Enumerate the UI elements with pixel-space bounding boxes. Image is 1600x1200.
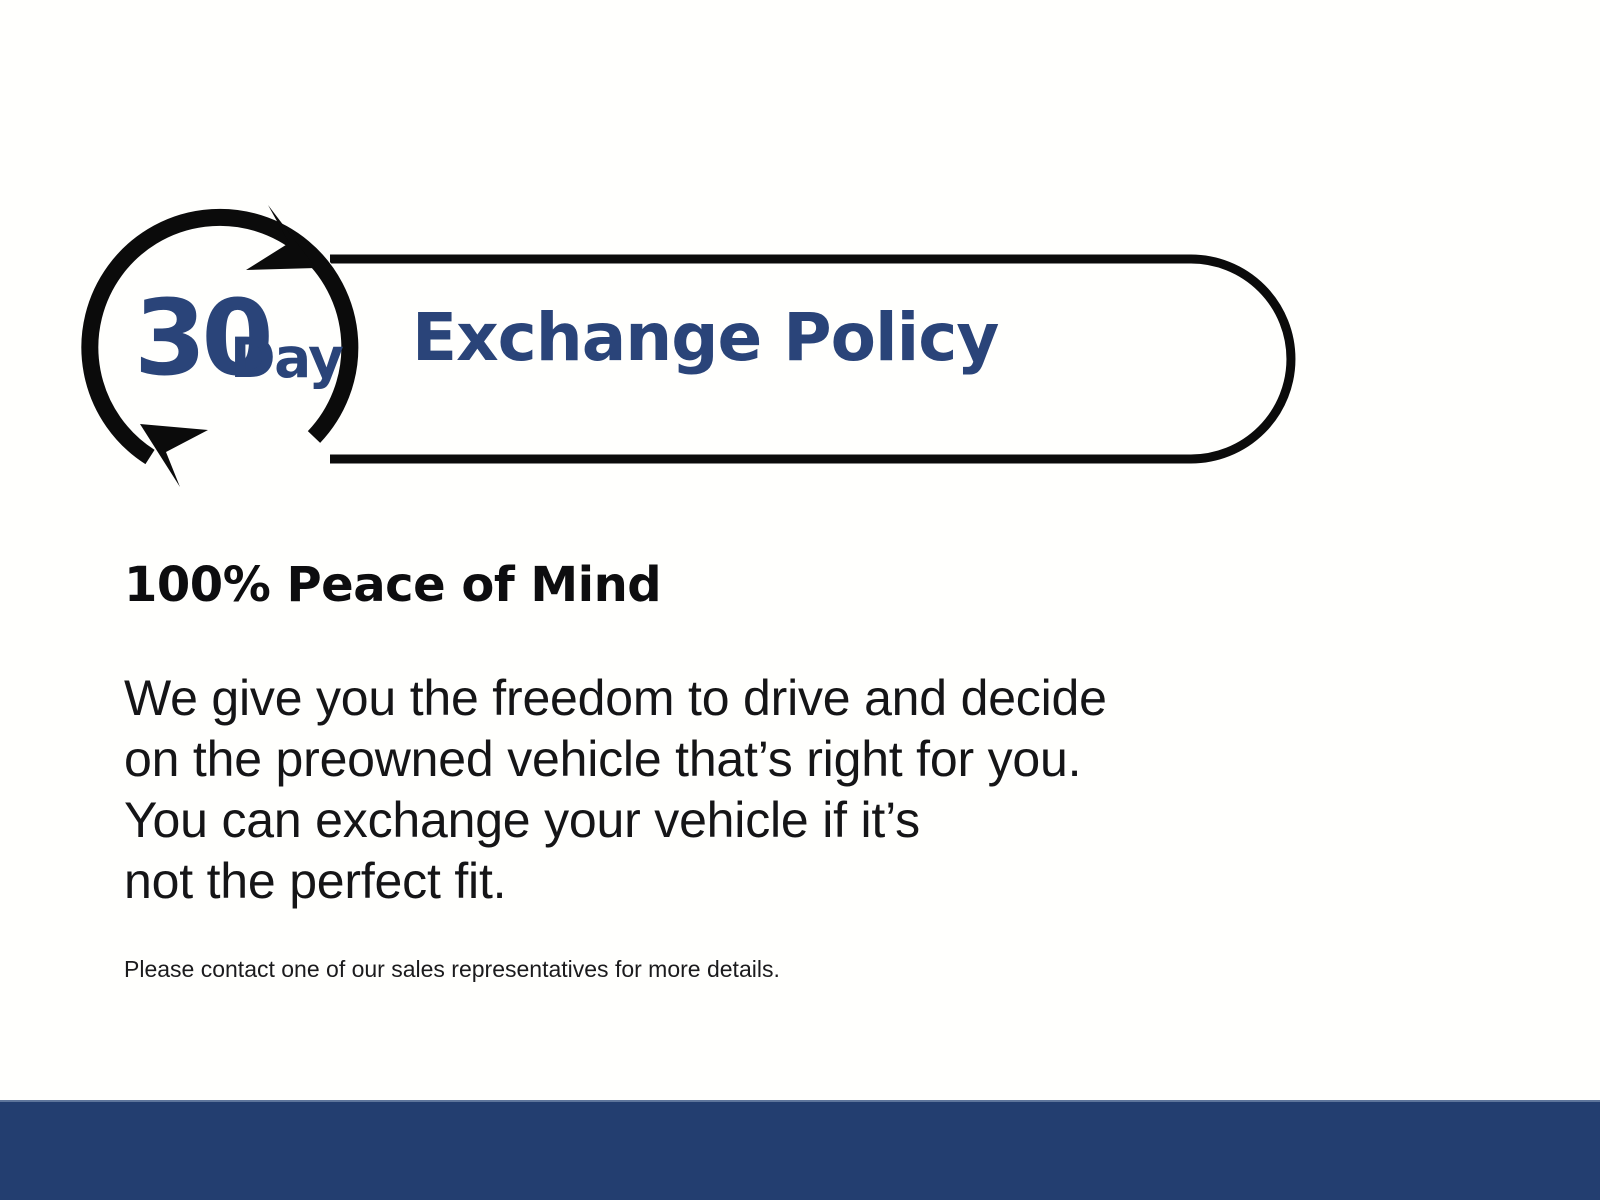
policy-header-block: 30 Day Exchange Policy: [0, 0, 1400, 520]
copy-fineprint: Please contact one of our sales represen…: [124, 954, 1384, 984]
copy-body: We give you the freedom to drive and dec…: [124, 668, 1384, 912]
copy-body-line: not the perfect fit.: [124, 851, 1384, 912]
policy-copy-block: 100% Peace of Mind We give you the freed…: [124, 556, 1384, 984]
footer-bar-hairline: [0, 1100, 1600, 1102]
copy-body-line: We give you the freedom to drive and dec…: [124, 668, 1384, 729]
badge-and-banner-graphic: [0, 0, 1400, 520]
footer-bar: [0, 1100, 1600, 1200]
copy-body-line: You can exchange your vehicle if it’s: [124, 790, 1384, 851]
exchange-policy-slide: 30 Day Exchange Policy 100% Peace of Min…: [0, 0, 1600, 1200]
copy-body-line: on the preowned vehicle that’s right for…: [124, 729, 1384, 790]
banner-title: Exchange Policy: [412, 300, 998, 376]
copy-heading: 100% Peace of Mind: [124, 556, 1384, 614]
